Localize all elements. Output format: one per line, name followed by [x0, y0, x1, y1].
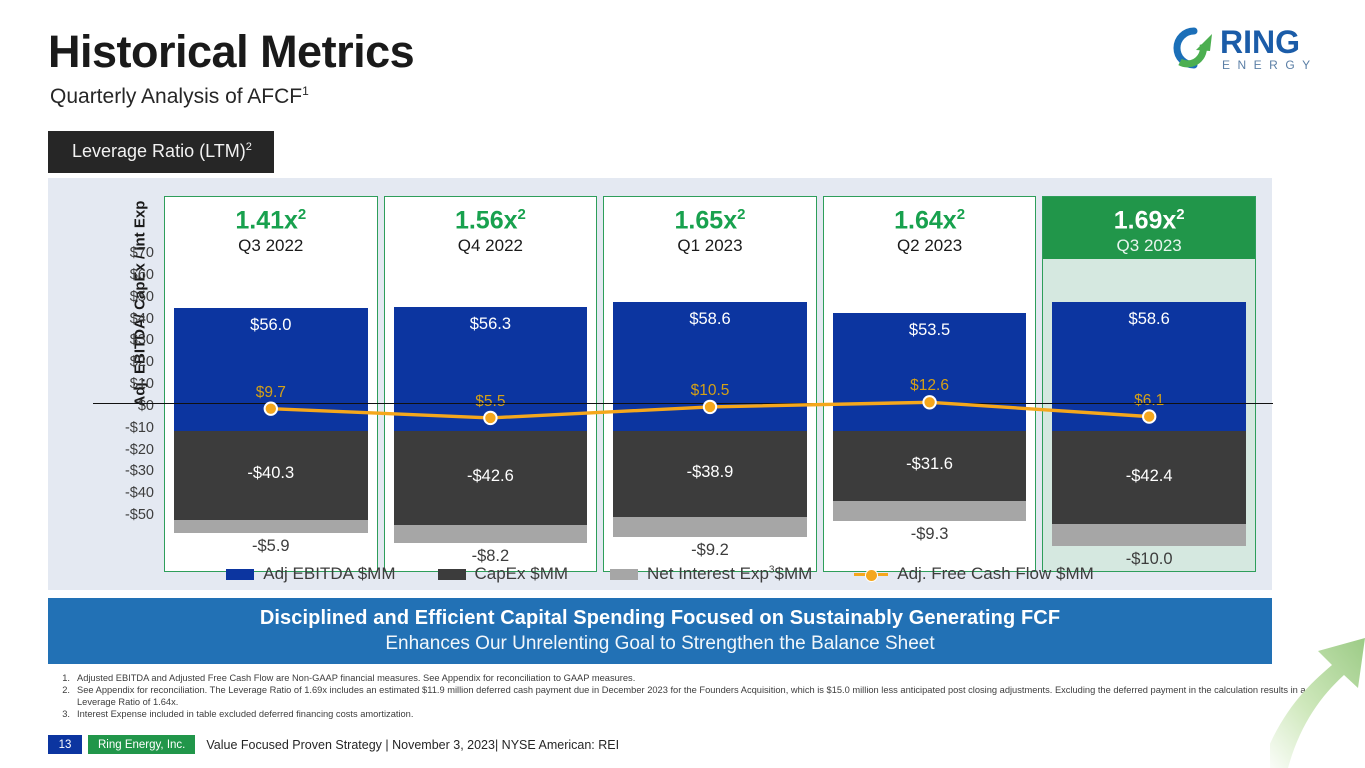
y-axis-tick: $10	[96, 377, 154, 392]
y-axis-tick: -$10	[96, 421, 154, 436]
bar-label-adj-ebitda: $56.0	[165, 316, 377, 335]
y-axis-tick: $30	[96, 333, 154, 348]
leverage-ratio-value-footnote-marker: 2	[518, 206, 526, 223]
leverage-ratio-value: 1.64x2	[824, 207, 1036, 234]
page-subtitle: Quarterly Analysis of AFCF1	[50, 84, 309, 109]
quarter-card[interactable]: 1.41x2Q3 2022$56.0-$40.3-$5.9$9.7	[164, 196, 378, 572]
data-label-adj-free-cash-flow: $10.5	[604, 382, 816, 400]
legend-item[interactable]: Adj EBITDA $MM	[226, 564, 395, 584]
y-axis-tick: $70	[96, 246, 154, 261]
quarter-card[interactable]: 1.65x2Q1 2023$58.6-$38.9-$9.2$10.5	[603, 196, 817, 572]
leverage-ratio-value: 1.65x2	[604, 207, 816, 234]
quarter-label: Q4 2022	[385, 236, 597, 256]
legend-swatch-icon	[854, 568, 888, 580]
legend-label: CapEx $MM	[475, 564, 569, 584]
footnote-number: 3.	[56, 709, 70, 721]
logo-wordmark-energy: ENERGY	[1222, 58, 1318, 72]
page-subtitle-footnote-marker: 1	[302, 84, 309, 98]
y-axis-tick: -$40	[96, 486, 154, 501]
quarter-card-chart: $58.6-$38.9-$9.2$10.5	[604, 259, 816, 571]
leverage-ratio-footnote-marker: 2	[246, 141, 252, 153]
bar-label-capex: -$38.9	[604, 463, 816, 482]
y-axis-tick: -$50	[96, 508, 154, 523]
bar-label-capex: -$40.3	[165, 464, 377, 483]
data-label-adj-free-cash-flow: $5.5	[385, 393, 597, 411]
quarter-card-header: 1.56x2Q4 2022	[385, 197, 597, 259]
bar-label-net-interest-expense: -$9.3	[824, 525, 1036, 544]
bar-label-net-interest-expense: -$8.2	[385, 547, 597, 566]
page-title: Historical Metrics	[48, 26, 414, 78]
zero-baseline	[93, 403, 1273, 404]
footnote-text: Adjusted EBITDA and Adjusted Free Cash F…	[77, 673, 635, 685]
y-axis-tick: $0	[96, 399, 154, 414]
quarter-card-header: 1.41x2Q3 2022	[165, 197, 377, 259]
leverage-ratio-value-footnote-marker: 2	[298, 206, 306, 223]
decorative-arrow-icon	[1270, 593, 1365, 768]
ring-energy-logo: RING ENERGY	[1158, 20, 1333, 78]
quarter-card-chart: $56.3-$42.6-$8.2$5.5	[385, 259, 597, 571]
y-axis-ticks: $70$60$50$40$30$20$10$0-$10-$20-$30-$40-…	[96, 246, 154, 508]
bar-label-net-interest-expense: -$5.9	[165, 537, 377, 556]
quarter-label: Q1 2023	[604, 236, 816, 256]
quarter-card-header: 1.65x2Q1 2023	[604, 197, 816, 259]
footnote-number: 2.	[56, 685, 70, 709]
leverage-ratio-value: 1.41x2	[165, 207, 377, 234]
bar-net-interest-expense	[833, 501, 1027, 521]
footnote-number: 1.	[56, 673, 70, 685]
quarter-card-header: 1.64x2Q2 2023	[824, 197, 1036, 259]
y-axis-tick: $50	[96, 290, 154, 305]
legend-label: Adj. Free Cash Flow $MM	[897, 564, 1094, 584]
bar-label-adj-ebitda: $56.3	[385, 315, 597, 334]
footnotes: 1.Adjusted EBITDA and Adjusted Free Cash…	[56, 673, 1316, 721]
quarter-label: Q3 2023	[1043, 236, 1255, 256]
data-label-adj-free-cash-flow: $12.6	[824, 377, 1036, 395]
legend-item[interactable]: CapEx $MM	[438, 564, 569, 584]
quarter-cards: 1.41x2Q3 2022$56.0-$40.3-$5.9$9.71.56x2Q…	[164, 196, 1256, 572]
quarter-card[interactable]: 1.69x2Q3 2023$58.6-$42.4-$10.0$6.1	[1042, 196, 1256, 572]
legend-swatch-icon	[610, 569, 638, 580]
legend-swatch-icon	[438, 569, 466, 580]
legend-item[interactable]: Adj. Free Cash Flow $MM	[854, 564, 1094, 584]
company-badge: Ring Energy, Inc.	[88, 735, 195, 754]
quarter-card-chart: $53.5-$31.6-$9.3$12.6	[824, 259, 1036, 571]
footnote: 3.Interest Expense included in table exc…	[56, 709, 1316, 721]
slide-footer: 13 Ring Energy, Inc. Value Focused Prove…	[48, 735, 619, 754]
quarter-label: Q2 2023	[824, 236, 1036, 256]
bar-label-capex: -$31.6	[824, 455, 1036, 474]
leverage-ratio-value: 1.69x2	[1043, 207, 1255, 234]
legend-label: Net Interest Exp3$MM	[647, 564, 812, 584]
bar-label-capex: -$42.4	[1043, 467, 1255, 486]
bar-label-adj-ebitda: $53.5	[824, 321, 1036, 340]
footnote-text: See Appendix for reconciliation. The Lev…	[77, 685, 1316, 709]
bar-label-net-interest-expense: -$9.2	[604, 541, 816, 560]
bar-label-capex: -$42.6	[385, 467, 597, 486]
banner-headline: Disciplined and Efficient Capital Spendi…	[260, 607, 1060, 630]
quarter-card-chart: $58.6-$42.4-$10.0$6.1	[1043, 259, 1255, 571]
footnote: 2.See Appendix for reconciliation. The L…	[56, 685, 1316, 709]
leverage-ratio-value-footnote-marker: 2	[1176, 206, 1184, 223]
bar-net-interest-expense	[613, 517, 807, 537]
bar-net-interest-expense	[394, 525, 588, 543]
data-label-adj-free-cash-flow: $9.7	[165, 384, 377, 402]
legend-item[interactable]: Net Interest Exp3$MM	[610, 564, 812, 584]
leverage-ratio-value: 1.56x2	[385, 207, 597, 234]
y-axis-tick: $60	[96, 268, 154, 283]
leverage-ratio-value-footnote-marker: 2	[737, 206, 745, 223]
y-axis-tick: -$20	[96, 443, 154, 458]
chart-legend: Adj EBITDA $MMCapEx $MMNet Interest Exp3…	[48, 564, 1272, 584]
page-subtitle-text: Quarterly Analysis of AFCF	[50, 85, 302, 108]
data-label-adj-free-cash-flow: $6.1	[1043, 392, 1255, 410]
leverage-ratio-value-footnote-marker: 2	[957, 206, 965, 223]
quarter-card[interactable]: 1.64x2Q2 2023$53.5-$31.6-$9.3$12.6	[823, 196, 1037, 572]
y-axis-tick: $40	[96, 312, 154, 327]
page-number-badge: 13	[48, 735, 82, 754]
bar-net-interest-expense	[1052, 524, 1246, 546]
footnote-text: Interest Expense included in table exclu…	[77, 709, 413, 721]
legend-label: Adj EBITDA $MM	[263, 564, 395, 584]
banner-subheadline: Enhances Our Unrelenting Goal to Strengt…	[385, 633, 934, 655]
quarter-card-header: 1.69x2Q3 2023	[1043, 197, 1255, 259]
bar-net-interest-expense	[174, 520, 368, 533]
quarter-label: Q3 2022	[165, 236, 377, 256]
quarter-card-chart: $56.0-$40.3-$5.9$9.7	[165, 259, 377, 571]
bar-label-adj-ebitda: $58.6	[604, 310, 816, 329]
logo-wordmark-ring: RING	[1220, 24, 1300, 61]
chart-panel: Adj. EBITDA/ CapEx / Int Exp $70$60$50$4…	[48, 178, 1272, 590]
quarter-card[interactable]: 1.56x2Q4 2022$56.3-$42.6-$8.2$5.5	[384, 196, 598, 572]
leverage-ratio-tag-label: Leverage Ratio (LTM)	[72, 141, 246, 161]
y-axis-tick: -$30	[96, 464, 154, 479]
legend-label-footnote-marker: 3	[769, 564, 775, 575]
legend-swatch-icon	[226, 569, 254, 580]
bar-label-adj-ebitda: $58.6	[1043, 310, 1255, 329]
slide: Historical Metrics Quarterly Analysis of…	[0, 0, 1365, 768]
footer-tagline: Value Focused Proven Strategy | November…	[206, 738, 619, 752]
leverage-ratio-tag: Leverage Ratio (LTM)2	[48, 131, 274, 173]
y-axis-tick: $20	[96, 355, 154, 370]
footnote: 1.Adjusted EBITDA and Adjusted Free Cash…	[56, 673, 1316, 685]
takeaway-banner: Disciplined and Efficient Capital Spendi…	[48, 598, 1272, 664]
